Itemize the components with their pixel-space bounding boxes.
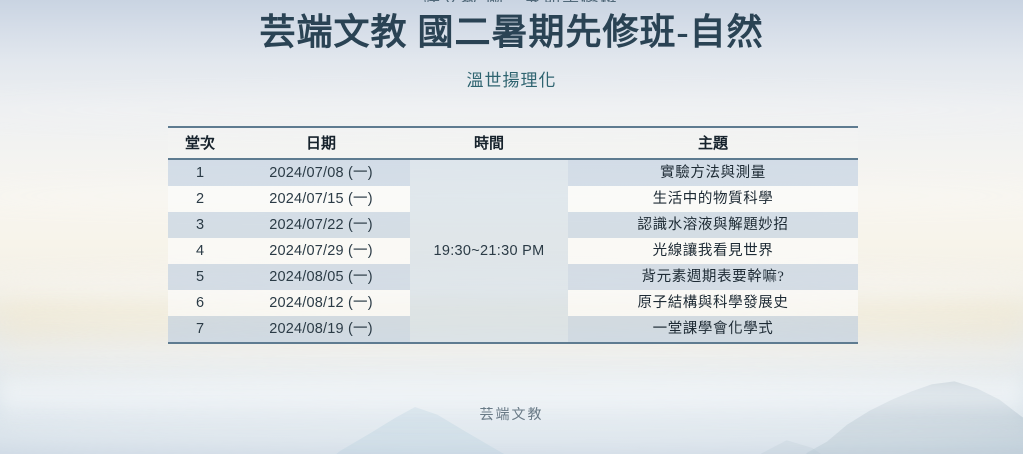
poster-page: 芸端文教 國二暑期先修班 芸端文教 國二暑期先修班-自然 溫世揚理化 堂次 日期… xyxy=(0,0,1023,454)
cell-session-number: 4 xyxy=(168,238,232,264)
cell-session-number: 1 xyxy=(168,159,232,186)
table-header-row: 堂次 日期 時間 主題 xyxy=(168,127,858,159)
cell-session-number: 2 xyxy=(168,186,232,212)
column-header-session: 堂次 xyxy=(168,127,232,159)
page-title: 芸端文教 國二暑期先修班-自然 xyxy=(0,0,1023,54)
column-header-topic: 主題 xyxy=(568,127,858,159)
cell-topic: 一堂課學會化學式 xyxy=(568,316,858,342)
cell-topic: 原子結構與科學發展史 xyxy=(568,290,858,316)
cell-topic: 生活中的物質科學 xyxy=(568,186,858,212)
cell-topic: 實驗方法與測量 xyxy=(568,159,858,186)
column-header-time: 時間 xyxy=(410,127,568,159)
footer-brand: 芸端文教 xyxy=(0,404,1023,424)
table-bottom-rule xyxy=(168,342,858,344)
cell-topic: 背元素週期表要幹嘛? xyxy=(568,264,858,290)
cell-topic: 認識水溶液與解題妙招 xyxy=(568,212,858,238)
cell-date: 2024/08/12 (一) xyxy=(232,290,410,316)
column-header-date: 日期 xyxy=(232,127,410,159)
table-row: 12024/07/08 (一)19:30~21:30 PM實驗方法與測量 xyxy=(168,159,858,186)
cell-topic: 光線讓我看見世界 xyxy=(568,238,858,264)
cell-date: 2024/08/19 (一) xyxy=(232,316,410,342)
cell-date: 2024/07/15 (一) xyxy=(232,186,410,212)
schedule-table-head: 堂次 日期 時間 主題 xyxy=(168,127,858,159)
schedule-table: 堂次 日期 時間 主題 12024/07/08 (一)19:30~21:30 P… xyxy=(168,126,858,342)
cell-session-number: 3 xyxy=(168,212,232,238)
cell-date: 2024/07/29 (一) xyxy=(232,238,410,264)
cell-session-number: 6 xyxy=(168,290,232,316)
cell-time-merged: 19:30~21:30 PM xyxy=(410,159,568,342)
cell-date: 2024/07/08 (一) xyxy=(232,159,410,186)
schedule-table-container: 堂次 日期 時間 主題 12024/07/08 (一)19:30~21:30 P… xyxy=(168,126,858,344)
schedule-table-body: 12024/07/08 (一)19:30~21:30 PM實驗方法與測量2202… xyxy=(168,159,858,342)
clipped-header-line: 芸端文教 國二暑期先修班 xyxy=(0,0,1023,2)
cell-date: 2024/08/05 (一) xyxy=(232,264,410,290)
cell-session-number: 5 xyxy=(168,264,232,290)
cell-session-number: 7 xyxy=(168,316,232,342)
cell-date: 2024/07/22 (一) xyxy=(232,212,410,238)
page-subtitle: 溫世揚理化 xyxy=(0,54,1023,92)
